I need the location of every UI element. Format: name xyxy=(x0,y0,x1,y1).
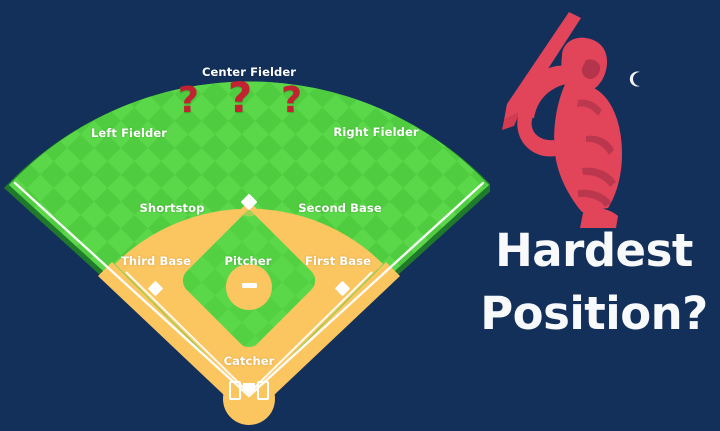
headline-line-1: Hardest xyxy=(468,228,720,273)
baseball-field-graphic xyxy=(0,0,490,431)
question-mark-3: ? xyxy=(281,84,302,118)
baseball-field-diagram: Center Fielder Left Fielder Right Fielde… xyxy=(0,0,490,431)
headline-line-2: Position? xyxy=(468,291,720,336)
pitchers-mound xyxy=(226,264,272,310)
question-mark-1: ? xyxy=(178,84,199,118)
headline-panel: Hardest Position? xyxy=(468,0,720,431)
question-marks-group: ? ? ? xyxy=(178,84,302,130)
baseball-batter-silhouette-icon xyxy=(474,8,664,228)
poster-canvas: Center Fielder Left Fielder Right Fielde… xyxy=(0,0,720,431)
question-mark-2: ? xyxy=(228,81,252,115)
baseball-crescent-icon xyxy=(626,70,644,88)
